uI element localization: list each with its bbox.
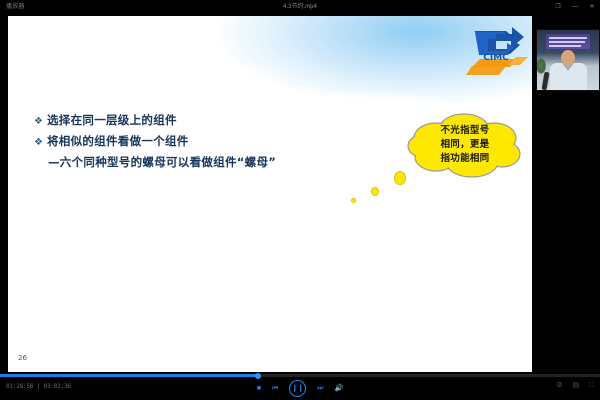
progress-fill	[0, 374, 258, 377]
bullet-text: 将相似的组件看做一个组件	[47, 133, 189, 149]
slide-number: 26	[18, 354, 27, 362]
restore-button[interactable]: ❐	[554, 0, 562, 14]
slide-bullet-list: ❖ 选择在同一层级上的组件 ❖ 将相似的组件看做一个组件 —六个同种型号的螺母可…	[34, 112, 364, 170]
progress-bar[interactable]	[0, 374, 600, 377]
next-button[interactable]: ⏭	[317, 385, 323, 392]
diamond-bullet-icon: ❖	[34, 117, 47, 127]
previous-button[interactable]: ⏮	[272, 385, 278, 392]
window-controls: ❐ — ✕	[554, 0, 596, 14]
cloud-callout: 不光指型号 相同，更是 指功能相同	[406, 112, 524, 180]
title-bar: 播放器 4.3节约.mp4 ❐ — ✕	[0, 0, 600, 14]
cimc-logo: CIMC	[466, 19, 530, 81]
close-button[interactable]: ✕	[588, 0, 596, 14]
playlist-icon[interactable]: ▤	[572, 382, 579, 389]
bullet-item: ❖ 选择在同一层级上的组件	[34, 112, 364, 128]
fullscreen-icon[interactable]: ⛶	[589, 382, 594, 389]
callout-text-block: 不光指型号 相同，更是 指功能相同	[406, 124, 524, 166]
video-player-window: 播放器 4.3节约.mp4 ❐ — ✕ CIMC	[0, 0, 600, 400]
stop-button[interactable]: ■	[257, 385, 261, 392]
cimc-logo-text: CIMC	[483, 53, 509, 63]
pause-button[interactable]: ❙❙	[289, 380, 306, 397]
volume-button[interactable]: 🔊	[335, 385, 344, 392]
minimize-button[interactable]: —	[571, 0, 579, 14]
thought-dot-small	[351, 198, 356, 203]
progress-handle[interactable]	[255, 373, 261, 379]
callout-line-1: 不光指型号	[406, 124, 524, 138]
window-title: 4.3节约.mp4	[0, 0, 600, 14]
webcam-banner	[546, 34, 590, 49]
bullet-item: ❖ 将相似的组件看做一个组件	[34, 133, 364, 149]
player-control-bar: 01:28:56 | 03:02:36 ■ ⏮ ❙❙ ⏭ 🔊 ⚙ ▤ ⛶	[0, 374, 600, 400]
video-stage[interactable]: CIMC ❖ 选择在同一层级上的组件 ❖ 将相似的组件看做一个组件 —六个同种型…	[0, 14, 600, 374]
diamond-bullet-icon: ❖	[34, 138, 47, 148]
settings-icon[interactable]: ⚙	[556, 382, 562, 389]
presentation-slide: CIMC ❖ 选择在同一层级上的组件 ❖ 将相似的组件看做一个组件 —六个同种型…	[8, 16, 532, 372]
sub-bullet-text: —六个同种型号的螺母可以看做组件“螺母”	[48, 154, 364, 170]
player-right-tools: ⚙ ▤ ⛶	[556, 382, 594, 389]
callout-line-2: 相同，更是	[406, 138, 524, 152]
webcam-person-head	[561, 50, 575, 65]
transport-controls: ■ ⏮ ❙❙ ⏭ 🔊	[0, 380, 600, 397]
thought-dot-large	[394, 171, 406, 185]
callout-line-3: 指功能相同	[406, 152, 524, 166]
thought-dot-medium	[371, 187, 379, 196]
presenter-webcam[interactable]	[536, 29, 600, 91]
bullet-text: 选择在同一层级上的组件	[47, 112, 177, 128]
